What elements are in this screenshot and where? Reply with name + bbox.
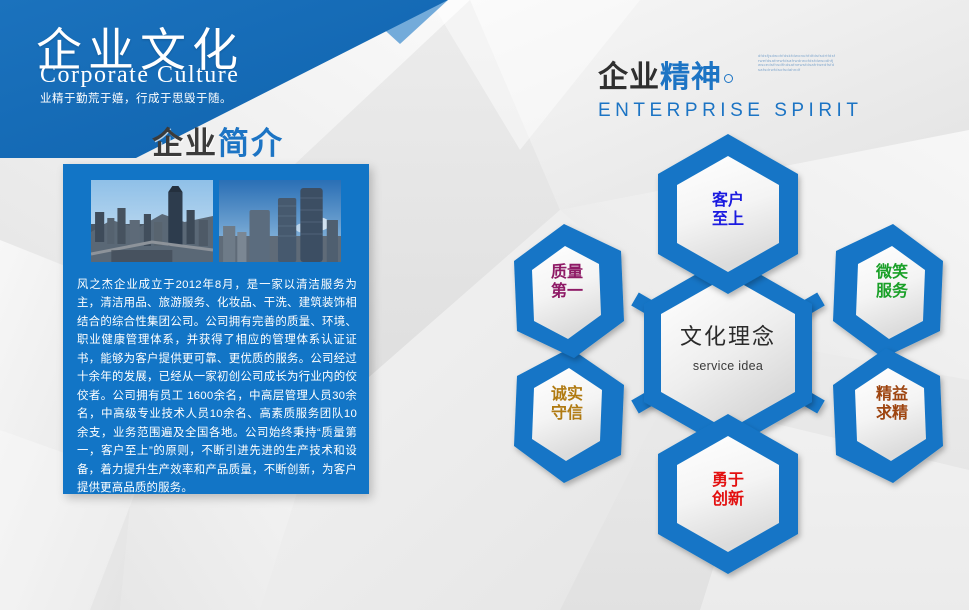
hex-petal-upper-left xyxy=(514,224,624,358)
spirit-section-header: 企业精神 ENTERPRISE SPIRIT dfdsfjsdwohfdskfd… xyxy=(598,52,862,122)
photo-strip xyxy=(91,180,341,262)
hex-petal-lower-right xyxy=(833,348,943,483)
header-title-en: Corporate Culture xyxy=(40,62,239,89)
hex-petal-lower-left xyxy=(514,348,624,483)
spirit-title-part1: 企业 xyxy=(598,61,660,94)
spirit-title-part2: 精神 xyxy=(660,61,722,94)
hex-petal-bottom xyxy=(658,414,798,574)
company-intro-card: 风之杰企业成立于2012年8月，是一家以清洁服务为主，清洁用品、旅游服务、化妆品… xyxy=(63,164,369,494)
header-subtitle: 业精于勤荒于嬉，行成于思毁于随。 xyxy=(40,90,232,106)
hex-petal-upper-right xyxy=(833,224,943,358)
photo-city-skyline-aerial xyxy=(91,180,213,262)
intro-title-part2: 简介 xyxy=(218,126,284,161)
circle-dot-icon xyxy=(724,74,733,83)
hex-petal-top xyxy=(658,134,798,294)
decorative-microtext: dfdsfjsdwohfdskfdwonuhfdfdsfsdrtfdsfrwef… xyxy=(758,54,836,84)
hex-diagram-svg xyxy=(488,96,969,610)
culture-hex-diagram: 客户 至上 微笑 服务 精益 求精 勇于 创新 诚实 守信 质量 第一 文化理念… xyxy=(488,96,969,610)
company-intro-text: 风之杰企业成立于2012年8月，是一家以清洁服务为主，清洁用品、旅游服务、化妆品… xyxy=(77,276,357,498)
spirit-title-en: ENTERPRISE SPIRIT xyxy=(598,100,862,122)
intro-title-part1: 企业 xyxy=(152,126,218,161)
photo-city-towers xyxy=(219,180,341,262)
intro-section-title: 企业简介 xyxy=(152,118,284,163)
